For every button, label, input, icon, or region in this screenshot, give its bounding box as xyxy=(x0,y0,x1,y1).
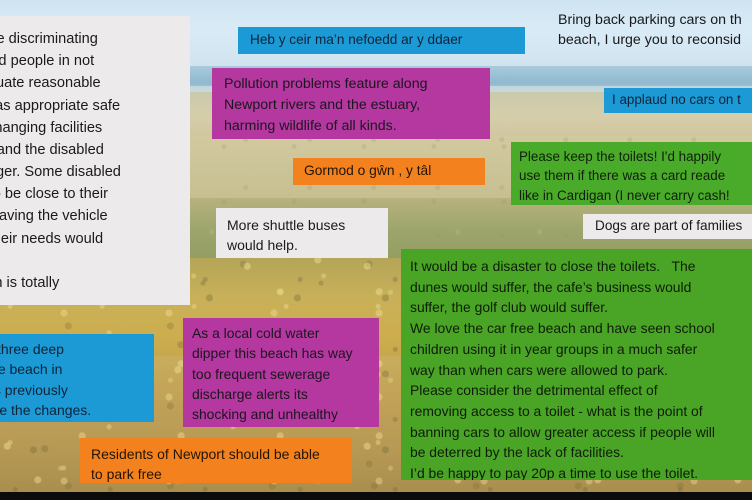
comment-cars-three-deep: d cars three deep d on the beach in mont… xyxy=(0,334,154,422)
comment-gormod-o-gwn: Gormod o gŵn , y tâl xyxy=(293,158,485,185)
slide-canvas: ve NP are discriminating t disabled peop… xyxy=(0,0,752,500)
comment-disabled-access: ve NP are discriminating t disabled peop… xyxy=(0,16,190,305)
comment-toilets-card-reader: Please keep the toilets! I'd happily use… xyxy=(511,142,752,205)
comment-disaster-to-close-toilets: It would be a disaster to close the toil… xyxy=(401,249,752,480)
comment-dogs-are-part-of-families: Dogs are part of families xyxy=(583,214,752,239)
comment-applaud-no-cars: I applaud no cars on t xyxy=(604,88,752,113)
comment-residents-park-free: Residents of Newport should be able to p… xyxy=(80,438,352,483)
bottom-letterbox-bar xyxy=(0,492,752,500)
comment-cold-water-dipper: As a local cold water dipper this beach … xyxy=(183,318,379,427)
comment-bring-back-parking: Bring back parking cars on th beach, I u… xyxy=(558,10,752,56)
comment-pollution: Pollution problems feature along Newport… xyxy=(212,68,490,139)
comment-heb-y-ceir: Heb y ceir ma’n nefoedd ar y ddaer xyxy=(238,27,525,54)
comment-shuttle-buses: More shuttle buses would help. xyxy=(216,208,388,258)
